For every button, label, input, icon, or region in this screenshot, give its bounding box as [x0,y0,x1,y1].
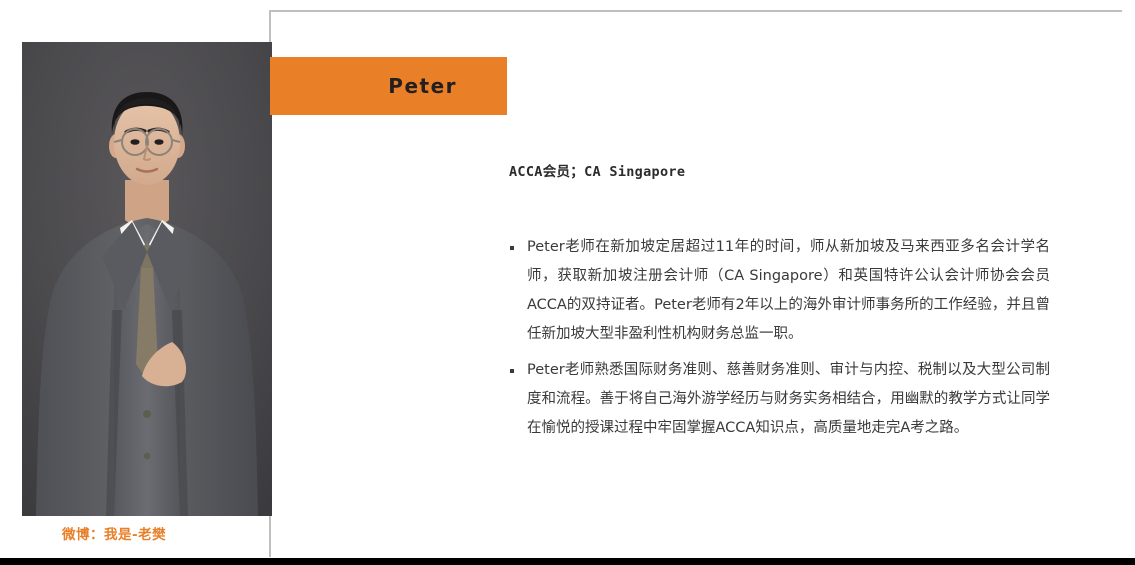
photo-caption: 微博：我是-老樊 [62,523,166,543]
name-banner: Peter [270,57,507,115]
instructor-name: Peter [388,74,457,98]
bio-bullet-item: Peter老师熟悉国际财务准则、慈善财务准则、审计与内控、税制以及大型公司制度和… [505,356,1050,443]
slide-root: 微博：我是-老樊 Peter ACCA会员；CA Singapore Peter… [0,0,1135,565]
portrait-photo [22,42,272,516]
credentials-line: ACCA会员；CA Singapore [509,160,685,180]
bio-bullet-item: Peter老师在新加坡定居超过11年的时间，师从新加坡及马来西亚多名会计学名师，… [505,233,1050,349]
bottom-bar [0,558,1135,565]
bio-bullet-list: Peter老师在新加坡定居超过11年的时间，师从新加坡及马来西亚多名会计学名师，… [505,233,1050,450]
portrait-illustration [22,42,272,516]
